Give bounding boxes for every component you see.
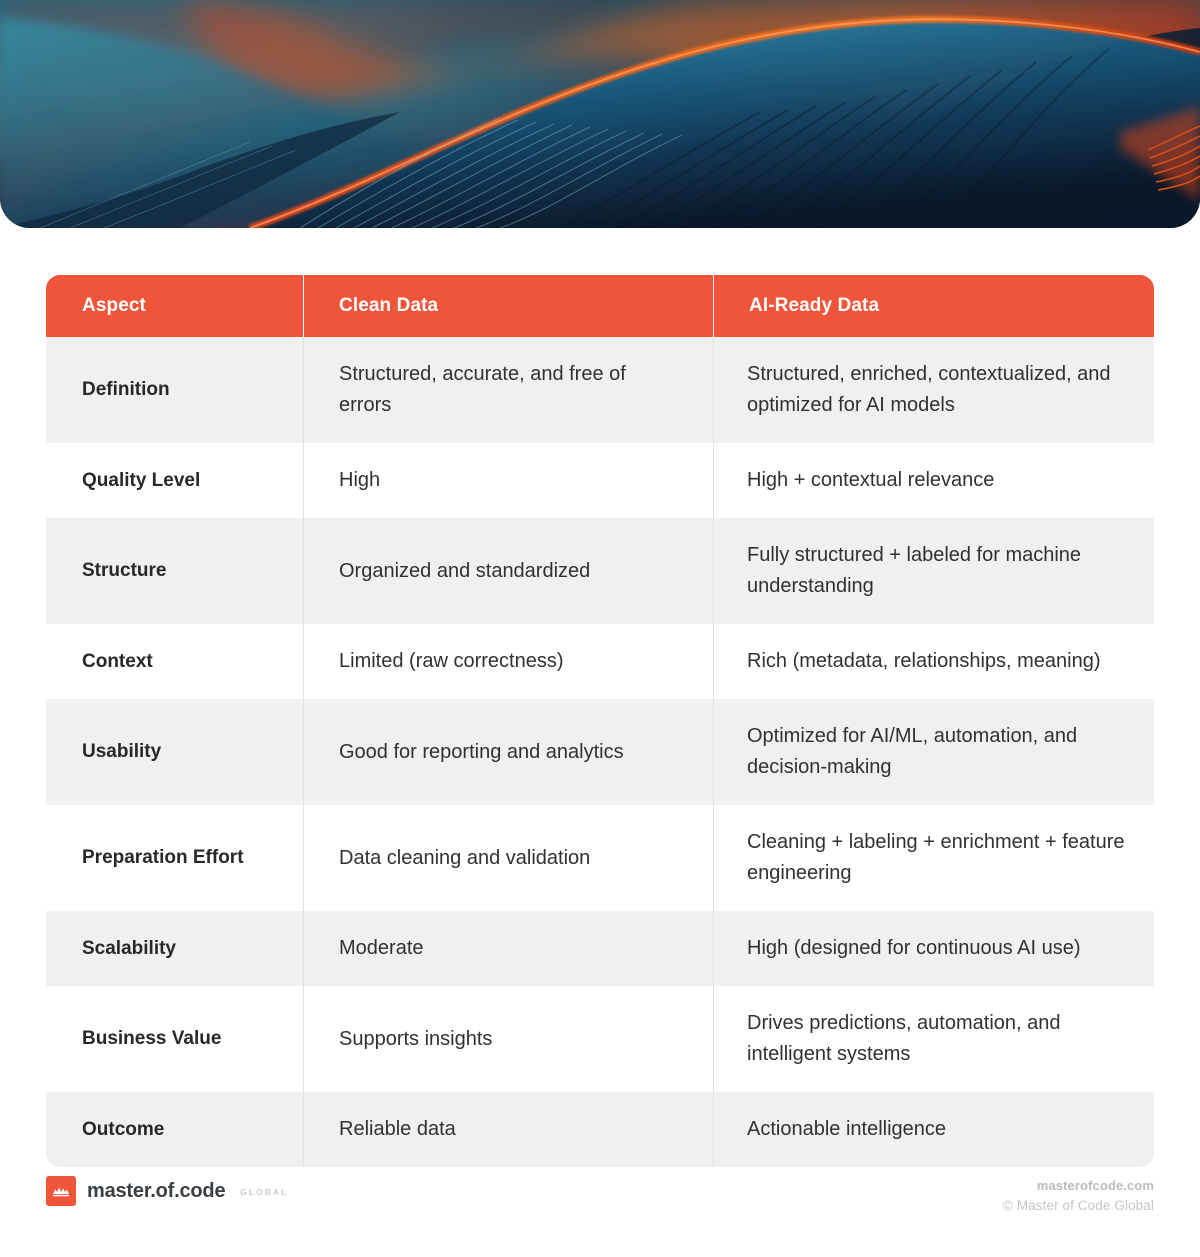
row-clean-data-cell: Moderate [303, 911, 713, 986]
table-header: Aspect Clean Data AI-Ready Data [46, 275, 1154, 337]
table-row: Preparation Effort Data cleaning and val… [46, 805, 1154, 911]
row-ai-ready-cell: Drives predictions, automation, and inte… [713, 986, 1154, 1092]
brand-logo[interactable]: master.of.code GLOBAL [46, 1176, 289, 1206]
row-aspect-label: Definition [46, 337, 303, 443]
brand-suffix: GLOBAL [240, 1186, 288, 1197]
row-ai-ready-cell: Fully structured + labeled for machine u… [713, 518, 1154, 624]
column-header-clean-data: Clean Data [303, 275, 713, 337]
table-row: Business Value Supports insights Drives … [46, 986, 1154, 1092]
hero-abstract-artwork [0, 0, 1200, 228]
row-aspect-label: Context [46, 624, 303, 699]
column-header-aspect: Aspect [46, 275, 303, 337]
row-clean-data-cell: Reliable data [303, 1092, 713, 1167]
table-body: Definition Structured, accurate, and fre… [46, 337, 1154, 1167]
row-aspect-label: Scalability [46, 911, 303, 986]
row-clean-data-cell: Organized and standardized [303, 518, 713, 624]
table-row: Context Limited (raw correctness) Rich (… [46, 624, 1154, 699]
row-aspect-label: Quality Level [46, 443, 303, 518]
brand-name: master.of.code [87, 1180, 225, 1203]
website-url[interactable]: masterofcode.com [1003, 1176, 1154, 1196]
row-clean-data-cell: Good for reporting and analytics [303, 699, 713, 805]
page-footer: master.of.code GLOBAL masterofcode.com ©… [46, 1176, 1154, 1232]
row-ai-ready-cell: High + contextual relevance [713, 443, 1154, 518]
table-row: Outcome Reliable data Actionable intelli… [46, 1092, 1154, 1167]
row-clean-data-cell: Limited (raw correctness) [303, 624, 713, 699]
mountains-mark-glyph [52, 1185, 70, 1197]
table-row: Structure Organized and standardized Ful… [46, 518, 1154, 624]
column-header-ai-ready-data: AI-Ready Data [713, 275, 1154, 337]
comparison-table: Aspect Clean Data AI-Ready Data Definiti… [46, 275, 1154, 1167]
table-row: Scalability Moderate High (designed for … [46, 911, 1154, 986]
row-ai-ready-cell: Rich (metadata, relationships, meaning) [713, 624, 1154, 699]
row-aspect-label: Usability [46, 699, 303, 805]
table-header-row: Aspect Clean Data AI-Ready Data [46, 275, 1154, 337]
row-aspect-label: Outcome [46, 1092, 303, 1167]
comparison-table-container: Aspect Clean Data AI-Ready Data Definiti… [46, 275, 1154, 1167]
row-ai-ready-cell: Structured, enriched, contextualized, an… [713, 337, 1154, 443]
row-ai-ready-cell: Optimized for AI/ML, automation, and dec… [713, 699, 1154, 805]
row-ai-ready-cell: High (designed for continuous AI use) [713, 911, 1154, 986]
row-ai-ready-cell: Actionable intelligence [713, 1092, 1154, 1167]
row-aspect-label: Preparation Effort [46, 805, 303, 911]
row-clean-data-cell: Structured, accurate, and free of errors [303, 337, 713, 443]
row-aspect-label: Business Value [46, 986, 303, 1092]
row-clean-data-cell: Data cleaning and validation [303, 805, 713, 911]
table-row: Quality Level High High + contextual rel… [46, 443, 1154, 518]
table-row: Definition Structured, accurate, and fre… [46, 337, 1154, 443]
row-aspect-label: Structure [46, 518, 303, 624]
mountains-mark-icon [46, 1176, 76, 1206]
legal-block: masterofcode.com © Master of Code Global [1003, 1176, 1154, 1216]
table-row: Usability Good for reporting and analyti… [46, 699, 1154, 805]
hero-banner [0, 0, 1200, 228]
row-ai-ready-cell: Cleaning + labeling + enrichment + featu… [713, 805, 1154, 911]
row-clean-data-cell: Supports insights [303, 986, 713, 1092]
row-clean-data-cell: High [303, 443, 713, 518]
copyright-text: © Master of Code Global [1003, 1196, 1154, 1216]
